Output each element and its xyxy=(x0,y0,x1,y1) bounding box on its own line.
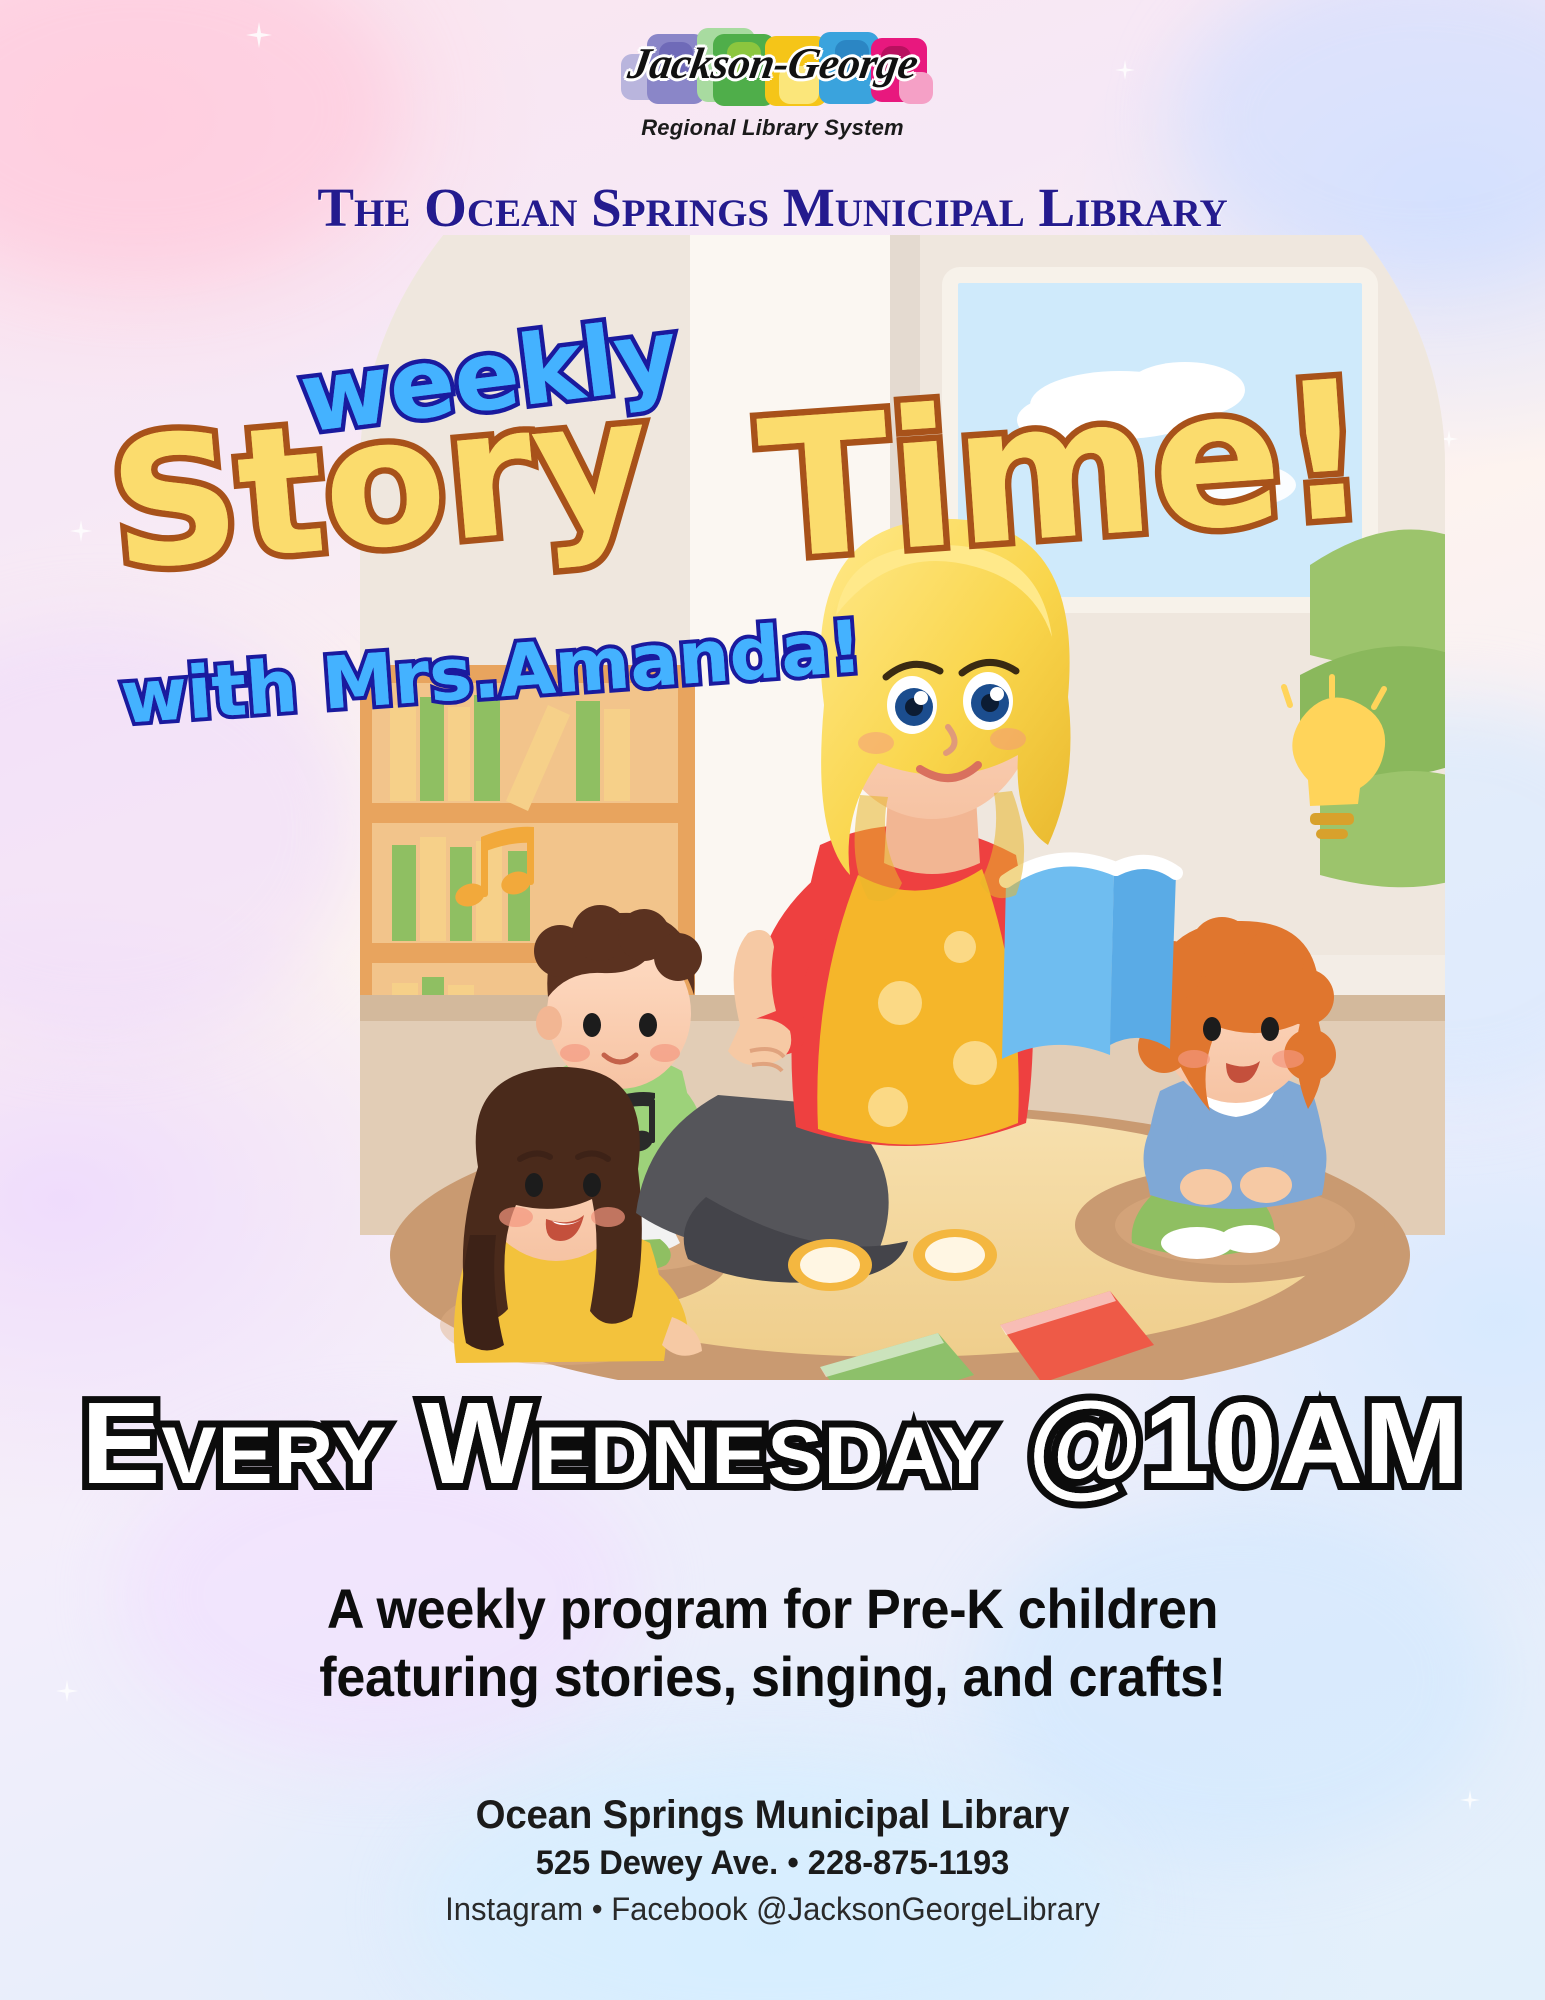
date-line: Every Wednesday @10AM xyxy=(0,1385,1545,1501)
pinafore-dot xyxy=(944,931,976,963)
logo-subtitle: Regional Library System xyxy=(641,115,904,141)
open-book xyxy=(1002,859,1176,1059)
description-line-1: A weekly program for Pre-K children xyxy=(54,1575,1491,1643)
footer-social: Instagram • Facebook @JacksonGeorgeLibra… xyxy=(23,1891,1522,1928)
footer-library-name: Ocean Springs Municipal Library xyxy=(31,1793,1514,1838)
library-logo: Jackson-George Regional Library System xyxy=(0,28,1545,141)
footer-address-phone: 525 Dewey Ave. • 228-875-1193 xyxy=(31,1844,1514,1883)
pinafore-dot xyxy=(878,981,922,1025)
pinafore-dot xyxy=(953,1041,997,1085)
description-block: A weekly program for Pre-K children feat… xyxy=(54,1575,1491,1712)
page-title: The Ocean Springs Municipal Library xyxy=(0,176,1545,239)
pinafore-dot xyxy=(868,1087,908,1127)
storytime-illustration xyxy=(0,235,1545,1380)
logo-wordmark: Jackson-George xyxy=(608,38,936,89)
description-line-2: featuring stories, singing, and crafts! xyxy=(54,1643,1491,1711)
poster-canvas: Jackson-George Regional Library System T… xyxy=(0,0,1545,2000)
logo-tiles: Jackson-George xyxy=(613,28,933,112)
footer-block: Ocean Springs Municipal Library 525 Dewe… xyxy=(0,1793,1545,1928)
